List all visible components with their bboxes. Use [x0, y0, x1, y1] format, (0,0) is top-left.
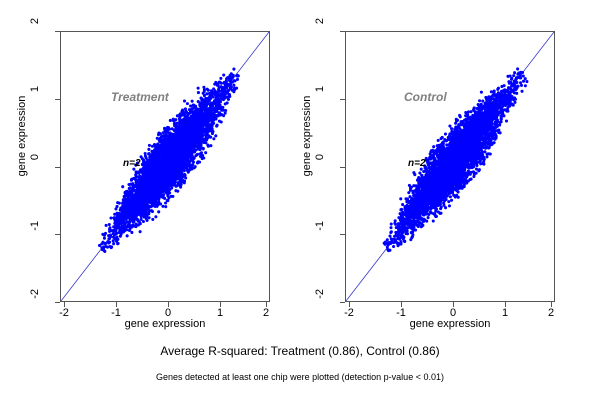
ytick-mark	[55, 234, 60, 235]
plot-area-treatment: Treatment n=2	[60, 31, 270, 302]
ytick-label: 1	[29, 86, 41, 112]
n-label-control: n=2	[408, 158, 426, 169]
ytick-label: 2	[29, 18, 41, 44]
ytick-label: -2	[29, 289, 41, 315]
ytick-mark	[340, 302, 345, 303]
ytick-mark	[340, 31, 345, 32]
ytick-mark	[55, 302, 60, 303]
caption-footnote: Genes detected at least one chip were pl…	[0, 372, 600, 382]
panel-control: Control n=2 -2 -1 0 1 2 -2 -1 0 1 2 gene…	[285, 0, 585, 340]
plot-area-control: Control n=2	[345, 31, 555, 302]
panel-treatment: Treatment n=2 -2 -1 0 1 2 -2 -1 0 1 2 ge…	[0, 0, 300, 340]
ytick-label: -2	[314, 289, 326, 315]
ytick-mark	[55, 99, 60, 100]
n-label-treatment: n=2	[123, 158, 141, 169]
ytick-label: 1	[314, 86, 326, 112]
ytick-label: -1	[29, 221, 41, 247]
ytick-label: 2	[314, 18, 326, 44]
ytick-mark	[55, 167, 60, 168]
x-axis-label-control: gene expression	[345, 318, 555, 330]
ytick-mark	[340, 99, 345, 100]
y-axis-label-control: gene expression	[301, 46, 313, 226]
ytick-label: 0	[314, 154, 326, 180]
ytick-mark	[340, 167, 345, 168]
ytick-mark	[55, 31, 60, 32]
x-axis-label-treatment: gene expression	[60, 318, 270, 330]
ytick-label: 0	[29, 154, 41, 180]
panel-title-treatment: Treatment	[111, 90, 169, 104]
scatter-canvas-control	[346, 32, 554, 301]
ytick-mark	[340, 234, 345, 235]
y-axis-label-treatment: gene expression	[16, 46, 28, 226]
scatter-figure: Treatment n=2 -2 -1 0 1 2 -2 -1 0 1 2 ge…	[0, 0, 600, 400]
ytick-label: -1	[314, 221, 326, 247]
scatter-canvas-treatment	[61, 32, 269, 301]
panel-title-control: Control	[404, 90, 447, 104]
caption-rsquared: Average R-squared: Treatment (0.86), Con…	[0, 344, 600, 358]
